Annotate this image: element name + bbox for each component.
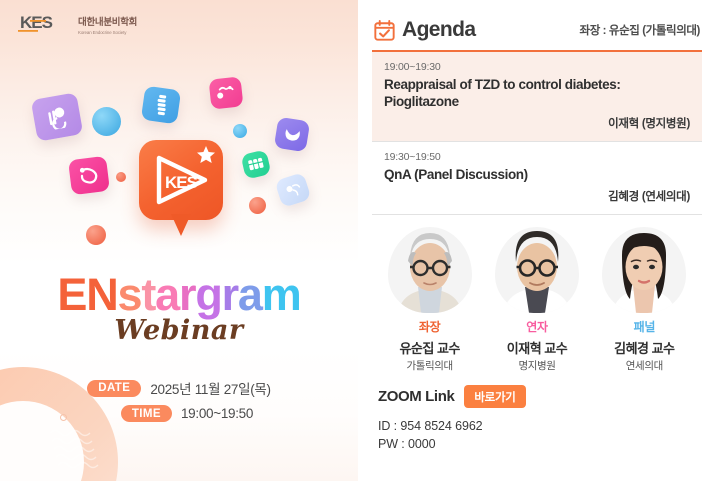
bubble-tail	[171, 214, 191, 236]
star-icon	[196, 145, 216, 165]
agenda-panel: Agenda 좌장 : 유순집 (가톨릭의대) 19:00~19:30 Reap…	[358, 0, 720, 481]
time-row: TIME 19:00~19:50	[0, 405, 358, 422]
agenda-header: Agenda 좌장 : 유순집 (가톨릭의대)	[372, 18, 702, 42]
speaker-affiliation: 명지병원	[483, 358, 590, 373]
zoom-link-block: ZOOM Link 바로가기 ID : 954 8524 6962 PW : 0…	[372, 373, 702, 451]
speaker-name: 이재혁 교수	[483, 338, 590, 357]
date-row: DATE 2025년 11월 27일(목)	[0, 378, 358, 398]
session-title: Reappraisal of TZD to control diabetes: …	[384, 76, 690, 111]
hero-panel: KES 대한내분비학회 Korean Endocrine Society	[0, 0, 358, 481]
kes-bubble-logo: KES	[139, 140, 223, 244]
avatar	[495, 227, 579, 313]
time-chip: TIME	[121, 405, 172, 422]
organ-tile-spine	[141, 86, 181, 125]
agenda-title-group: Agenda	[374, 18, 475, 42]
calendar-check-icon	[374, 20, 395, 41]
agenda-chair: 좌장 : 유순집 (가톨릭의대)	[580, 22, 700, 38]
date-time-block: DATE 2025년 11월 27일(목) TIME 19:00~19:50	[0, 378, 358, 429]
speaker-card-panel: 패널 김혜경 교수 연세의대	[591, 227, 698, 373]
speaker-role: 좌장	[376, 318, 483, 335]
decorative-ball-blue-small	[233, 124, 247, 138]
speaker-name: 김혜경 교수	[591, 338, 698, 357]
wordmark-letter-r2: r	[222, 269, 238, 320]
wordmark-line: ENstargram	[0, 272, 358, 317]
wordmark-subtitle: Webinar	[0, 315, 358, 346]
avatar	[602, 227, 686, 313]
decorative-ball-red-small	[116, 172, 126, 182]
bubble-kes-text: KES	[165, 173, 198, 192]
speaker-name: 유순집 교수	[376, 338, 483, 357]
society-name-ko: 대한내분비학회	[78, 18, 137, 28]
time-value: 19:00~19:50	[181, 406, 253, 421]
speaker-card-presenter: 연자 이재혁 교수 명지병원	[483, 227, 590, 373]
session-title: QnA (Panel Discussion)	[384, 166, 690, 183]
society-name-en: Korean Endocrine Society	[78, 30, 137, 35]
zoom-meeting-id: ID : 954 8524 6962	[378, 419, 696, 433]
organ-tile-adrenal	[31, 92, 84, 141]
society-logo: KES 대한내분비학회 Korean Endocrine Society	[18, 11, 137, 35]
wordmark-letter-a: a	[155, 269, 179, 320]
kes-mark-icon: KES	[18, 11, 74, 35]
zoom-link-label: ZOOM Link	[378, 388, 454, 405]
webinar-poster: KES 대한내분비학회 Korean Endocrine Society	[0, 0, 720, 481]
speaker-list: 좌장 유순집 교수 가톨릭의대	[372, 215, 702, 373]
organ-tile-teeth	[241, 149, 272, 179]
zoom-link-row: ZOOM Link 바로가기	[378, 385, 696, 408]
session-time: 19:30~19:50	[384, 151, 690, 163]
agenda-session-2: 19:30~19:50 QnA (Panel Discussion) 김혜경 (…	[372, 142, 702, 214]
agenda-title: Agenda	[402, 18, 475, 42]
session-speaker: 이재혁 (명지병원)	[384, 115, 690, 131]
wordmark-letter-s: s	[118, 269, 142, 320]
session-speaker: 김혜경 (연세의대)	[384, 188, 690, 204]
session-time: 19:00~19:30	[384, 61, 690, 73]
wordmark-letter-g: g	[195, 269, 221, 320]
wordmark-letter-m: m	[262, 269, 301, 320]
speaker-role: 패널	[591, 318, 698, 335]
wordmark-letter-t: t	[141, 269, 155, 320]
decorative-wave-lines	[48, 427, 100, 471]
wordmark-letter-r: r	[179, 269, 195, 320]
speaker-role: 연자	[483, 318, 590, 335]
organ-tile-pancreas	[68, 156, 110, 195]
wordmark-en: EN	[57, 269, 117, 320]
agenda-session-1: 19:00~19:30 Reappraisal of TZD to contro…	[372, 52, 702, 142]
zoom-password: PW : 0000	[378, 437, 696, 451]
decorative-ball-red-large	[249, 197, 266, 214]
event-wordmark: ENstargram Webinar	[0, 272, 358, 346]
decorative-ball-red-bottom	[86, 225, 106, 245]
date-value: 2025년 11월 27일(목)	[150, 378, 270, 398]
speaker-affiliation: 연세의대	[591, 358, 698, 373]
organ-tile-ovary	[209, 76, 244, 109]
svg-text:KES: KES	[20, 13, 53, 32]
avatar	[388, 227, 472, 313]
zoom-go-button[interactable]: 바로가기	[464, 385, 525, 408]
speaker-affiliation: 가톨릭의대	[376, 358, 483, 373]
organ-tile-thyroid	[274, 117, 310, 153]
decorative-ball-blue-large	[92, 107, 121, 136]
organ-tile-sperm	[274, 172, 311, 208]
date-chip: DATE	[87, 380, 141, 397]
speaker-card-chair: 좌장 유순집 교수 가톨릭의대	[376, 227, 483, 373]
wordmark-letter-a2: a	[238, 269, 262, 320]
